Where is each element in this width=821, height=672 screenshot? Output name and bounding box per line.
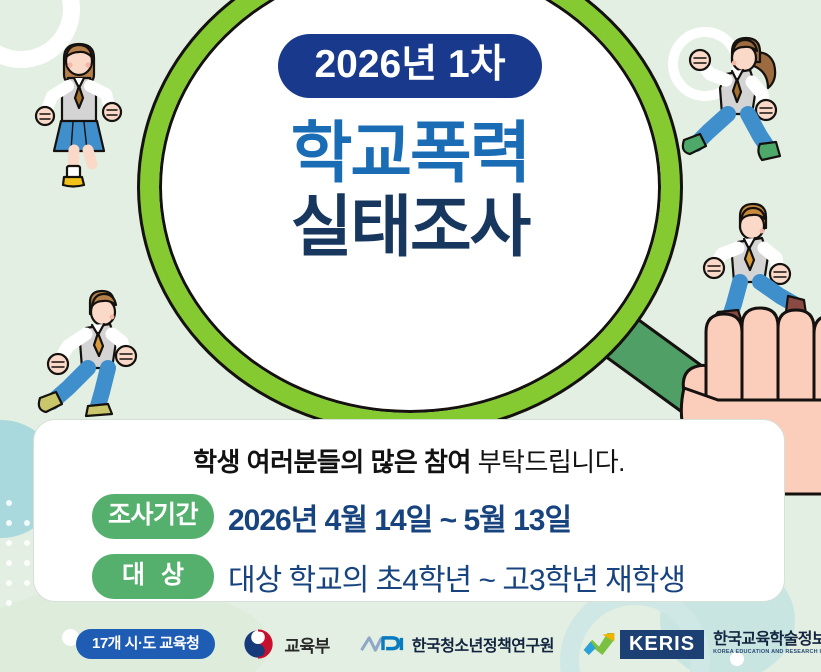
logo-ministry-of-education: 교육부 [241,627,329,661]
keris-wordmark: KERIS [620,630,704,659]
keris-label-kr: 한국교육학술정보원 [713,632,821,649]
poster-title-line-2: 실태조사 [291,192,530,264]
headline-strong: 학생 여러분들의 많은 참여 [193,447,471,477]
period-value: 2026년 4월 14일 ~ 5월 13일 [228,495,571,539]
nypi-label: 한국청소년정책연구원 [412,632,554,656]
info-row-period: 조사기간 2026년 4월 14일 ~ 5월 13일 [34,494,784,539]
target-label-pill: 대상 [92,554,214,599]
student-running-top-right [676,32,794,174]
target-value: 대상 학교의 초4학년 ~ 고3학년 재학생 [228,555,685,599]
education-offices-pill: 17개 시·도 교육청 [76,629,215,659]
poster-title-line-1: 학교폭력 [291,118,530,190]
keris-names: 한국교육학술정보원 KOREA EDUCATION AND RESEARCH I… [713,632,821,656]
headline: 학생 여러분들의 많은 참여 부탁드립니다. [34,442,784,479]
student-running-left [28,288,146,418]
taegeuk-icon [241,627,275,661]
student-cheering-top-left [28,38,140,188]
logo-nypi: 한국청소년정책연구원 [360,632,554,656]
keris-label-en: KOREA EDUCATION AND RESEARCH INFORMATION… [713,650,821,656]
headline-normal: 부탁드립니다. [471,447,625,477]
nypi-icon [360,633,406,655]
footer-logos: 17개 시·도 교육청 교육부 한국청소년정책연구원 [0,618,821,670]
round-badge: 2026년 1차 [278,34,541,98]
info-row-target: 대상 대상 학교의 초4학년 ~ 고3학년 재학생 [34,554,784,599]
lens-content: 2026년 1차 학교폭력 실태조사 [140,0,680,432]
period-label-pill: 조사기간 [92,494,214,539]
logo-keris: KERIS 한국교육학술정보원 KOREA EDUCATION AND RESE… [582,629,821,659]
keris-leaf-icon [582,629,616,659]
poster-root: 2026년 1차 학교폭력 실태조사 학생 여러분들의 많은 참여 부탁드립니다… [0,0,821,672]
info-panel: 학생 여러분들의 많은 참여 부탁드립니다. 조사기간 2026년 4월 14일… [33,419,785,602]
ministry-of-education-label: 교육부 [284,632,329,657]
